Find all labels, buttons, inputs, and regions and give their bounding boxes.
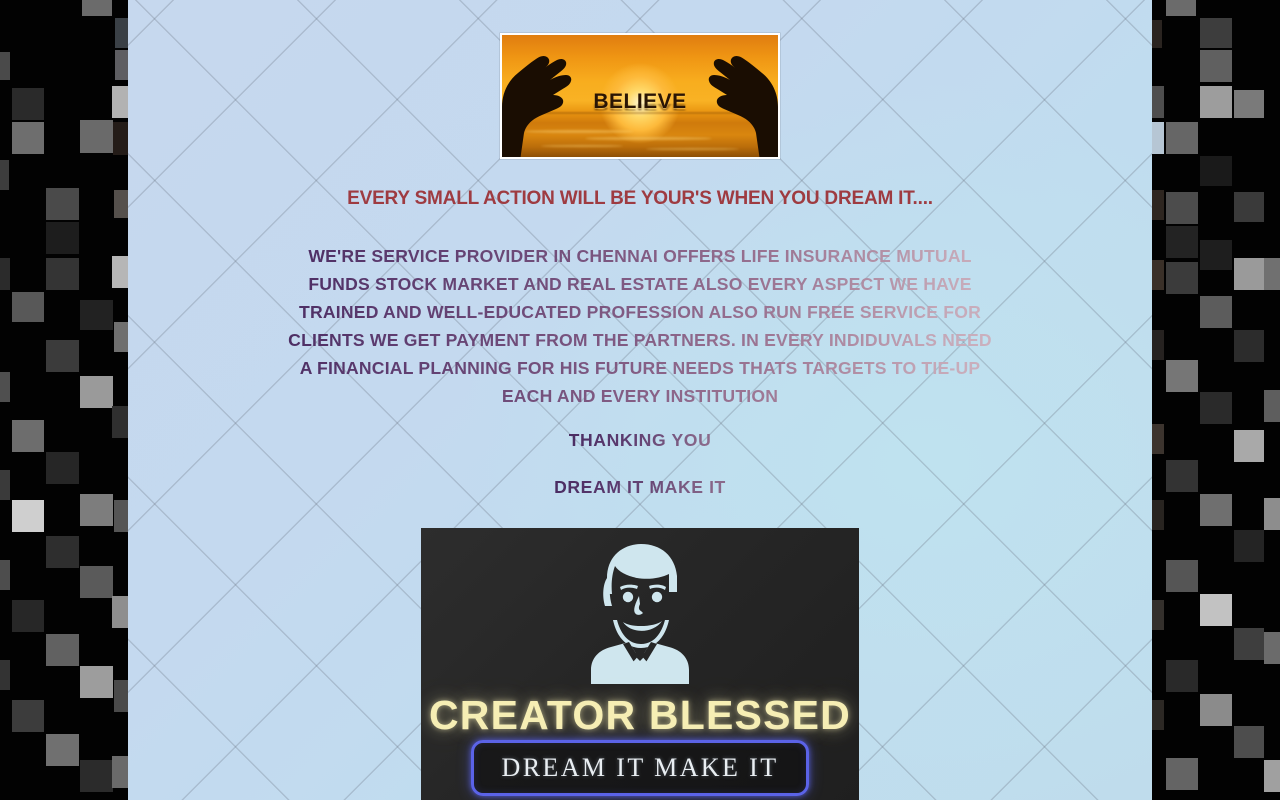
avatar (421, 534, 859, 684)
thanking-line: THANKING YOU (128, 430, 1152, 451)
backdrop-tile (112, 596, 128, 628)
backdrop-tile (1264, 760, 1280, 792)
backdrop-tile (115, 50, 128, 80)
backdrop-tile (1200, 392, 1232, 424)
backdrop-tile (1264, 258, 1280, 290)
backdrop-tile (1234, 258, 1264, 290)
believe-image-frame: BELIEVE BELIEVE (500, 33, 780, 159)
backdrop-tile (80, 760, 113, 792)
backdrop-tile (1152, 500, 1164, 530)
backdrop-tile (12, 600, 44, 632)
slogan-box: DREAM IT MAKE IT (471, 740, 809, 796)
backdrop-mosaic-left (0, 0, 128, 800)
backdrop-tile (0, 52, 10, 80)
backdrop-tile (1152, 20, 1162, 48)
backdrop-tile (12, 292, 44, 322)
backdrop-tile (1234, 192, 1264, 222)
backdrop-tile (1152, 190, 1164, 220)
backdrop-tile (1234, 726, 1264, 758)
backdrop-tile (113, 122, 128, 155)
backdrop-tile (1152, 600, 1164, 630)
backdrop-tile (1152, 86, 1164, 118)
backdrop-tile (12, 500, 44, 532)
backdrop-tile (1264, 390, 1280, 422)
backdrop-mosaic-right (1152, 0, 1280, 800)
backdrop-tile (1200, 594, 1232, 626)
slogan-text: DREAM IT MAKE IT (502, 753, 779, 783)
backdrop-tile (0, 160, 9, 190)
backdrop-tile (12, 420, 44, 452)
backdrop-tile (1152, 424, 1164, 454)
backdrop-tile (1166, 122, 1198, 154)
backdrop-tile (1200, 494, 1232, 526)
backdrop-tile (1200, 296, 1232, 328)
backdrop-tile (80, 120, 113, 153)
backdrop-tile (82, 0, 112, 16)
backdrop-tile (1166, 262, 1198, 294)
backdrop-tile (46, 340, 79, 372)
backdrop-tile (1200, 86, 1232, 118)
backdrop-tile (0, 660, 10, 690)
backdrop-tile (112, 86, 128, 118)
believe-word: BELIEVE (502, 90, 778, 114)
backdrop-tile (112, 406, 128, 438)
backdrop-tile (1152, 700, 1164, 730)
thanking-text: THANKING YOU (569, 430, 712, 451)
backdrop-tile (1234, 330, 1264, 362)
backdrop-tile (1200, 18, 1232, 48)
backdrop-tile (46, 188, 79, 220)
backdrop-tile (46, 536, 79, 568)
creator-blessed-logo-card: CREATOR BLESSED DREAM IT MAKE IT (421, 528, 859, 800)
backdrop-tile (1166, 192, 1198, 224)
backdrop-tile (1200, 240, 1232, 270)
backdrop-tile (114, 500, 128, 532)
backdrop-tile (46, 734, 79, 766)
backdrop-tile (1166, 0, 1196, 16)
backdrop-tile (1264, 632, 1280, 664)
backdrop-tile (1166, 226, 1198, 258)
backdrop-tile (80, 494, 113, 526)
backdrop-tile (46, 258, 79, 290)
backdrop-tile (1200, 156, 1232, 186)
backdrop-tile (112, 756, 128, 788)
backdrop-tile (46, 452, 79, 484)
backdrop-tile (80, 300, 113, 330)
backdrop-tile (1166, 560, 1198, 592)
slide-content: BELIEVE BELIEVE EVERY SMALL ACTION WILL … (128, 0, 1152, 800)
backdrop-tile (1234, 90, 1264, 118)
backdrop-tile (1166, 660, 1198, 692)
backdrop-tile (1152, 330, 1164, 360)
page-title: EVERY SMALL ACTION WILL BE YOUR'S WHEN Y… (128, 188, 1152, 210)
backdrop-tile (1152, 122, 1164, 154)
businessman-avatar-icon (565, 534, 715, 684)
brand-name: CREATOR BLESSED (421, 692, 859, 739)
backdrop-tile (80, 376, 113, 408)
backdrop-tile (1200, 694, 1232, 726)
backdrop-tile (114, 190, 128, 218)
tagline-text: DREAM IT MAKE IT (554, 477, 726, 498)
backdrop-tile (12, 88, 44, 120)
backdrop-tile (1234, 430, 1264, 462)
backdrop-tile (1166, 460, 1198, 492)
backdrop-tile (114, 680, 128, 712)
backdrop-tile (46, 634, 79, 666)
slide-panel: BELIEVE BELIEVE EVERY SMALL ACTION WILL … (128, 0, 1152, 800)
body-paragraph: WE'RE SERVICE PROVIDER IN CHENNAI OFFERS… (288, 242, 992, 410)
tagline-line: DREAM IT MAKE IT (128, 477, 1152, 498)
backdrop-tile (80, 666, 113, 698)
backdrop-tile (0, 372, 10, 402)
backdrop-tile (1152, 260, 1164, 290)
backdrop-tile (1234, 530, 1264, 562)
backdrop-tile (1200, 50, 1232, 82)
backdrop-tile (112, 256, 128, 288)
backdrop-tile (1234, 628, 1264, 660)
believe-sunset-photo: BELIEVE BELIEVE (502, 35, 778, 157)
body-paragraph-block: WE'RE SERVICE PROVIDER IN CHENNAI OFFERS… (288, 242, 992, 410)
backdrop-tile (12, 700, 44, 732)
backdrop-tile (1166, 758, 1198, 790)
backdrop-tile (46, 222, 79, 254)
backdrop-tile (115, 18, 128, 48)
backdrop-tile (0, 258, 10, 290)
backdrop-tile (80, 566, 113, 598)
backdrop-tile (12, 122, 44, 154)
backdrop-tile (0, 560, 10, 590)
backdrop-tile (114, 322, 128, 352)
backdrop-tile (0, 470, 10, 500)
backdrop-tile (1166, 360, 1198, 392)
backdrop-tile (1264, 498, 1280, 530)
